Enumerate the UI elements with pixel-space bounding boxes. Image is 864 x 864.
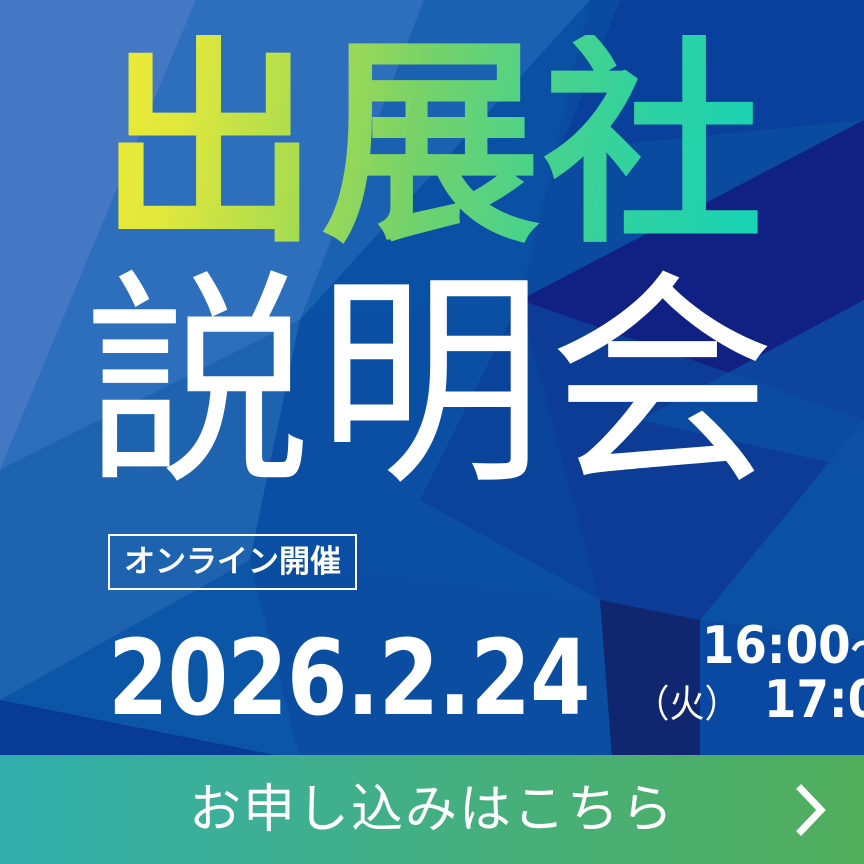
subhead-block: 説明会 — [0, 268, 864, 498]
event-date: 2026.2.24 — [108, 630, 590, 728]
event-time-end: 17:00 — [764, 674, 864, 726]
event-time-start-line: 16:00〜 — [702, 619, 864, 674]
subhead-text: 説明会 — [84, 269, 780, 497]
online-event-badge-label: オンライン開催 — [124, 547, 341, 578]
apply-cta-button[interactable]: お申し込みはこちら — [0, 755, 864, 864]
exhibitor-briefing-banner: 出展社 説明会 オンライン開催 2026.2.24 16:00〜 （火） 17:… — [0, 0, 864, 864]
online-event-badge: オンライン開催 — [108, 534, 357, 590]
chevron-right-icon — [794, 784, 828, 836]
apply-cta-label: お申し込みはこちら — [189, 784, 675, 836]
headline-text: 出展社 — [99, 35, 765, 255]
event-weekday: （火） — [634, 685, 739, 723]
headline-block: 出展社 — [0, 32, 864, 257]
event-time-start: 16:00 — [702, 616, 851, 676]
event-time-block: 16:00〜 （火） 17:00 — [630, 619, 864, 728]
event-weekday-and-end-line: （火） 17:00 — [630, 674, 864, 726]
event-datetime: 2026.2.24 16:00〜 （火） 17:00 — [108, 604, 780, 728]
time-range-tilde: 〜 — [851, 624, 864, 673]
